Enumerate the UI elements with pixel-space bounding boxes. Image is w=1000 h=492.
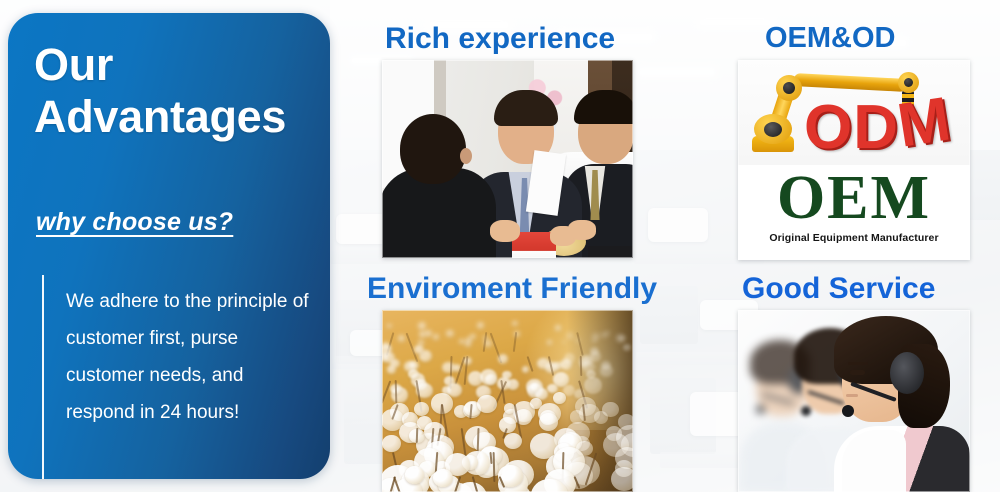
odm-wordmark: ODM	[804, 92, 970, 164]
panel-subtitle: why choose us?	[36, 208, 233, 237]
page-title: Our Advantages	[34, 39, 314, 143]
heading-rich-experience: Rich experience	[385, 22, 615, 56]
oem-caption: Original Equipment Manufacturer	[738, 232, 970, 244]
business-meeting-photo	[382, 60, 633, 258]
panel-body-text: We adhere to the principle of customer f…	[66, 283, 314, 431]
heading-good-service: Good Service	[742, 272, 935, 306]
odm-letters: ODM	[804, 93, 952, 162]
customer-service-photo	[738, 310, 970, 492]
panel-title-line-1: Our	[34, 39, 314, 91]
heading-oem-odm: OEM&OD	[765, 22, 896, 55]
panel-title-line-2: Advantages	[34, 91, 314, 143]
advantages-banner: Our Advantages why choose us? We adhere …	[0, 0, 1000, 492]
oem-odm-logo-image: ODM OEM Original Equipment Manufacturer	[738, 60, 970, 260]
vertical-divider	[42, 275, 44, 479]
cotton-field-photo	[382, 310, 633, 492]
oem-wordmark: OEM	[738, 164, 970, 232]
heading-enviroment-friendly: Enviroment Friendly	[367, 272, 657, 306]
our-advantages-panel: Our Advantages why choose us? We adhere …	[8, 13, 330, 479]
